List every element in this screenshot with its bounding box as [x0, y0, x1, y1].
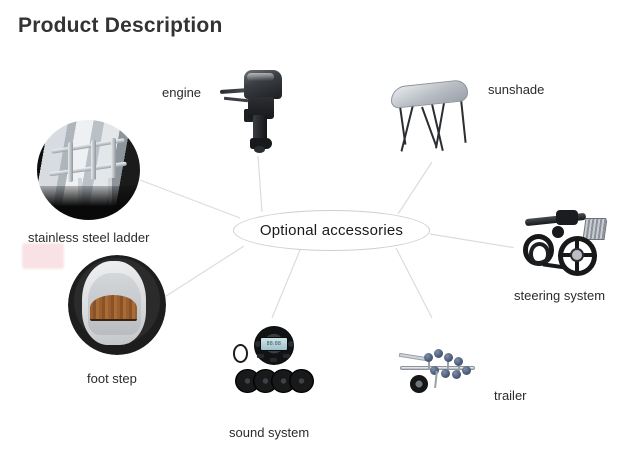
steering-wheel-hub [570, 248, 584, 262]
foot-step-icon[interactable] [68, 255, 166, 355]
ladder-step [68, 142, 73, 182]
steering-system-icon[interactable] [513, 190, 611, 290]
sunshade-canopy [391, 79, 468, 109]
product-description-page: Product Description Optional accessories [0, 0, 639, 459]
connector-to-steering [430, 234, 516, 248]
ladder-shadow [37, 186, 140, 220]
center-node-label: Optional accessories [260, 222, 403, 239]
trailer-wheel [410, 375, 429, 393]
stereo-button [270, 358, 277, 362]
sound-system-label: sound system [229, 425, 309, 440]
connector-to-sound-system [272, 250, 300, 318]
engine-cowl-highlight [247, 73, 275, 81]
steering-system-label: steering system [514, 288, 605, 303]
trailer-roller [434, 349, 443, 358]
steering-mount-plate [582, 218, 607, 240]
trailer-roller [454, 357, 463, 366]
stainless-steel-ladder-label: stainless steel ladder [28, 230, 149, 245]
stereo-knob [288, 341, 294, 347]
engine-propeller [254, 146, 265, 153]
speaker [289, 369, 314, 393]
speaker-wire-coil [233, 344, 249, 363]
engine-tiller-arm [223, 97, 247, 102]
center-node-optional-accessories[interactable]: Optional accessories [233, 210, 430, 251]
connector-to-foot-step [160, 246, 244, 300]
optional-accessories-diagram: Optional accessories stainless steel lad… [0, 0, 639, 459]
steering-helm-body [556, 210, 578, 225]
trailer-tongue [398, 353, 426, 361]
trailer-icon[interactable] [393, 318, 486, 410]
connector-to-ladder [140, 180, 240, 218]
connector-to-engine [258, 156, 262, 212]
connector-to-sunshade [398, 162, 432, 214]
stereo-button [257, 354, 264, 358]
sunshade-leg [460, 99, 467, 143]
trailer-roller [462, 366, 471, 375]
foot-step-teak-tread [90, 295, 137, 321]
trailer-jack-stand [434, 371, 438, 388]
trailer-roller [452, 370, 461, 379]
stereo-button [283, 354, 290, 358]
ladder-step [111, 138, 116, 178]
stereo-display: 88:88 [260, 337, 289, 351]
engine-shaft [253, 115, 267, 140]
trailer-label: trailer [494, 388, 527, 403]
ladder-step [91, 140, 96, 180]
steering-helm-knob [552, 226, 564, 238]
trailer-roller [441, 369, 450, 378]
connector-to-trailer [396, 248, 432, 318]
sunshade-label: sunshade [488, 82, 544, 97]
sound-system-icon[interactable]: 88:88 [225, 318, 321, 412]
trailer-roller [424, 353, 433, 362]
stainless-steel-ladder-icon[interactable] [37, 120, 140, 220]
sunshade-icon[interactable] [383, 63, 479, 162]
trailer-roller [444, 353, 453, 362]
foot-step-label: foot step [87, 371, 137, 386]
engine-icon[interactable] [207, 58, 299, 156]
engine-label: engine [162, 85, 201, 100]
